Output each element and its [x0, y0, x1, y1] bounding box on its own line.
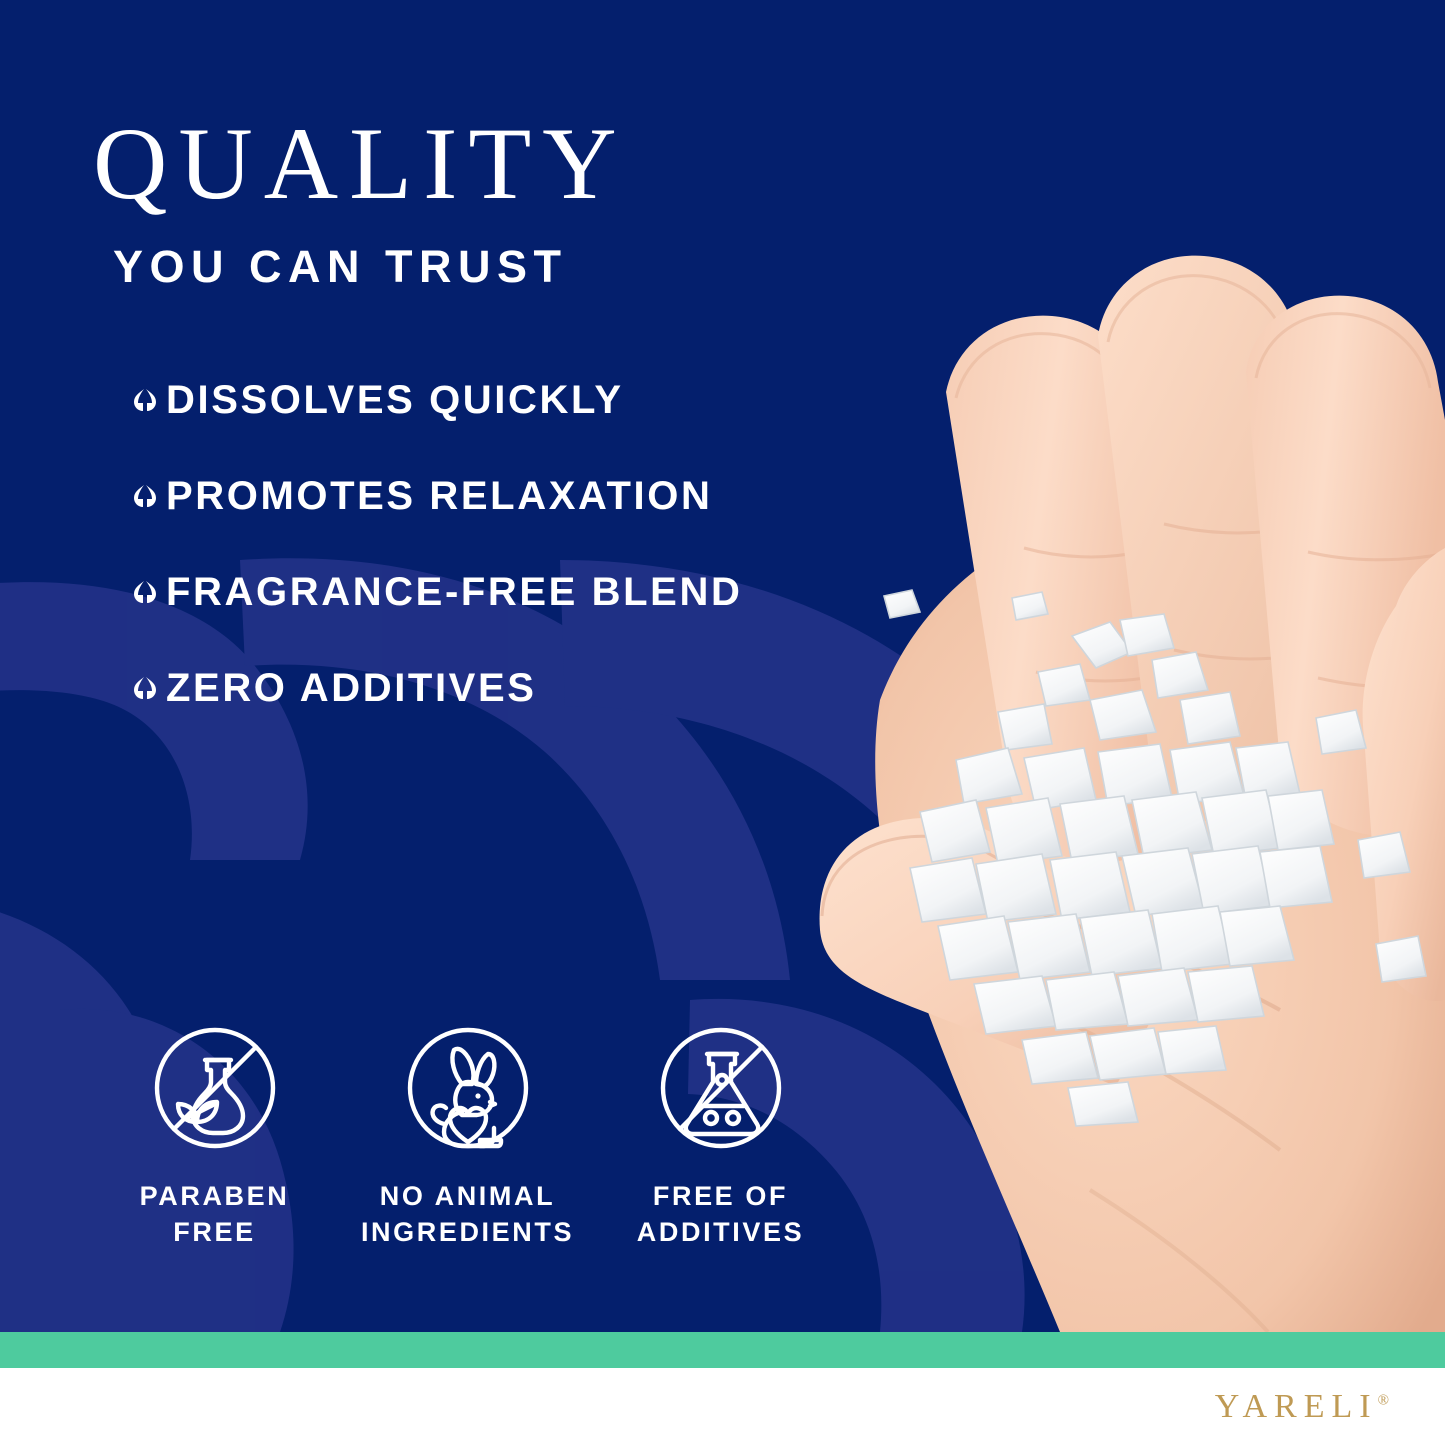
badge-caption: FREE OF ADDITIVES [637, 1178, 804, 1250]
benefits-list: DISSOLVES QUICKLY PROMOTES RELAXATION FR… [130, 352, 870, 736]
hero-panel: QUALITY YOU CAN TRUST DISSOLVES QUICKLY [0, 0, 1445, 1332]
hero-content: QUALITY YOU CAN TRUST DISSOLVES QUICKLY [0, 0, 900, 1332]
benefit-label: ZERO ADDITIVES [166, 668, 537, 708]
benefit-item: ZERO ADDITIVES [130, 640, 870, 736]
badge-caption-line2: ADDITIVES [637, 1214, 804, 1250]
badge-paraben-free: PARABEN FREE [88, 1020, 341, 1250]
registered-trademark-icon: ® [1378, 1393, 1389, 1409]
benefit-item: DISSOLVES QUICKLY [130, 352, 870, 448]
rabbit-heart-cruelty-free-icon [400, 1020, 536, 1156]
droplet-pair-bullet-icon [130, 385, 160, 415]
product-infographic-page: QUALITY YOU CAN TRUST DISSOLVES QUICKLY [0, 0, 1445, 1445]
benefit-label: DISSOLVES QUICKLY [166, 380, 624, 420]
no-additives-flask-icon [653, 1020, 789, 1156]
badge-caption-line2: INGREDIENTS [361, 1214, 574, 1250]
badge-caption: NO ANIMAL INGREDIENTS [361, 1178, 574, 1250]
benefit-item: PROMOTES RELAXATION [130, 448, 870, 544]
badge-caption-line1: PARABEN [140, 1178, 290, 1214]
footer-bar: YARELI® [0, 1368, 1445, 1445]
benefit-item: FRAGRANCE-FREE BLEND [130, 544, 870, 640]
brand-name: YARELI [1215, 1388, 1378, 1425]
droplet-pair-bullet-icon [130, 481, 160, 511]
badge-free-of-additives: FREE OF ADDITIVES [594, 1020, 847, 1250]
accent-divider-bar [0, 1332, 1445, 1368]
certification-badges: PARABEN FREE [88, 1020, 888, 1250]
brand-logo: YARELI® [1215, 1390, 1389, 1424]
droplet-pair-bullet-icon [130, 673, 160, 703]
droplet-pair-bullet-icon [130, 577, 160, 607]
benefit-label: PROMOTES RELAXATION [166, 476, 712, 516]
badge-caption-line2: FREE [140, 1214, 290, 1250]
page-subtitle: YOU CAN TRUST [113, 244, 568, 289]
no-paraben-flask-leaf-icon [147, 1020, 283, 1156]
page-title: QUALITY [93, 113, 628, 216]
badge-caption: PARABEN FREE [140, 1178, 290, 1250]
badge-caption-line1: FREE OF [637, 1178, 804, 1214]
badge-no-animal-ingredients: NO ANIMAL INGREDIENTS [341, 1020, 594, 1250]
badge-caption-line1: NO ANIMAL [361, 1178, 574, 1214]
benefit-label: FRAGRANCE-FREE BLEND [166, 572, 742, 612]
